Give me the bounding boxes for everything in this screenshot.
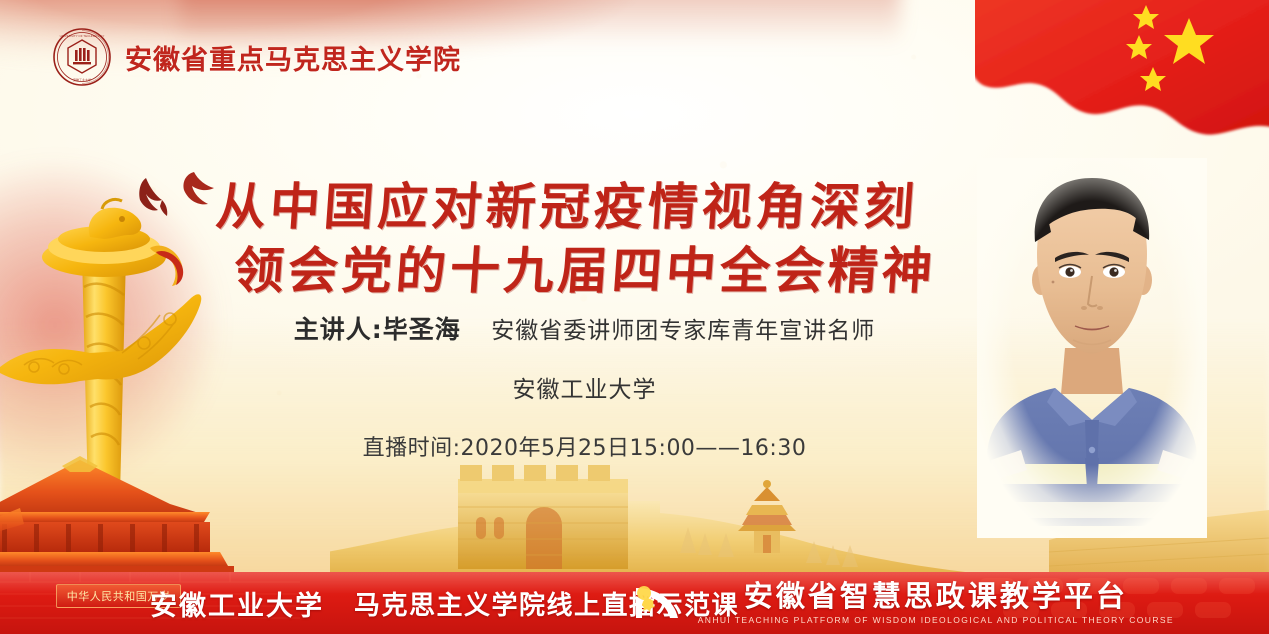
live-time: 直播时间:2020年5月25日15:00——16:30 — [0, 430, 1269, 462]
poster-title: 从中国应对新冠疫情视角深刻 领会党的十九届四中全会精神 — [216, 175, 916, 303]
platform-flag-star-emblem-icon — [632, 584, 684, 622]
svg-text:UNIVERSITY OF TECHNOLOGY: UNIVERSITY OF TECHNOLOGY — [60, 34, 105, 38]
organization-name: 安徽省重点马克思主义学院 — [125, 38, 461, 77]
speaker-row: 主讲人:毕圣海 安徽省委讲师团专家库青年宣讲名师 — [0, 310, 1269, 346]
title-line-2: 领会党的十九届四中全会精神 — [232, 239, 918, 303]
speaker-portrait — [977, 158, 1207, 538]
svg-text:安徽工业大学: 安徽工业大学 — [73, 77, 91, 82]
speaker-title: 安徽省委讲师团专家库青年宣讲名师 — [491, 318, 875, 344]
platform-title-block: 安徽省智慧思政课教学平台 ANHUI TEACHING PLATFORM OF … — [698, 582, 1174, 625]
speaker-name: 主讲人:毕圣海 — [294, 315, 461, 344]
bottom-banner: 中华人民共和国万岁 安徽工业大学 马克思主义学院线上直播示范课 安徽省智慧思政课… — [0, 572, 1269, 634]
lecture-info: 主讲人:毕圣海 安徽省委讲师团专家库青年宣讲名师 安徽工业大学 直播时间:202… — [0, 310, 1269, 462]
header: UNIVERSITY OF TECHNOLOGY 安徽工业大学 安徽省重点马克思… — [52, 27, 461, 87]
speaker-organization: 安徽工业大学 — [0, 370, 1269, 404]
title-line-1: 从中国应对新冠疫情视角深刻 — [214, 175, 918, 239]
banner-university-name: 安徽工业大学 — [150, 584, 324, 623]
platform-name-cn: 安徽省智慧思政课教学平台 — [744, 582, 1128, 611]
banner-right-group: 安徽省智慧思政课教学平台 ANHUI TEACHING PLATFORM OF … — [632, 572, 1174, 634]
platform-name-en: ANHUI TEACHING PLATFORM OF WISDOM IDEOLO… — [698, 616, 1174, 625]
live-class-poster: UNIVERSITY OF TECHNOLOGY 安徽工业大学 安徽省重点马克思… — [0, 0, 1269, 634]
ahut-university-seal-icon: UNIVERSITY OF TECHNOLOGY 安徽工业大学 — [52, 27, 112, 87]
gold-ribbon-icon — [150, 246, 183, 286]
china-flag-icon — [975, 0, 1269, 138]
